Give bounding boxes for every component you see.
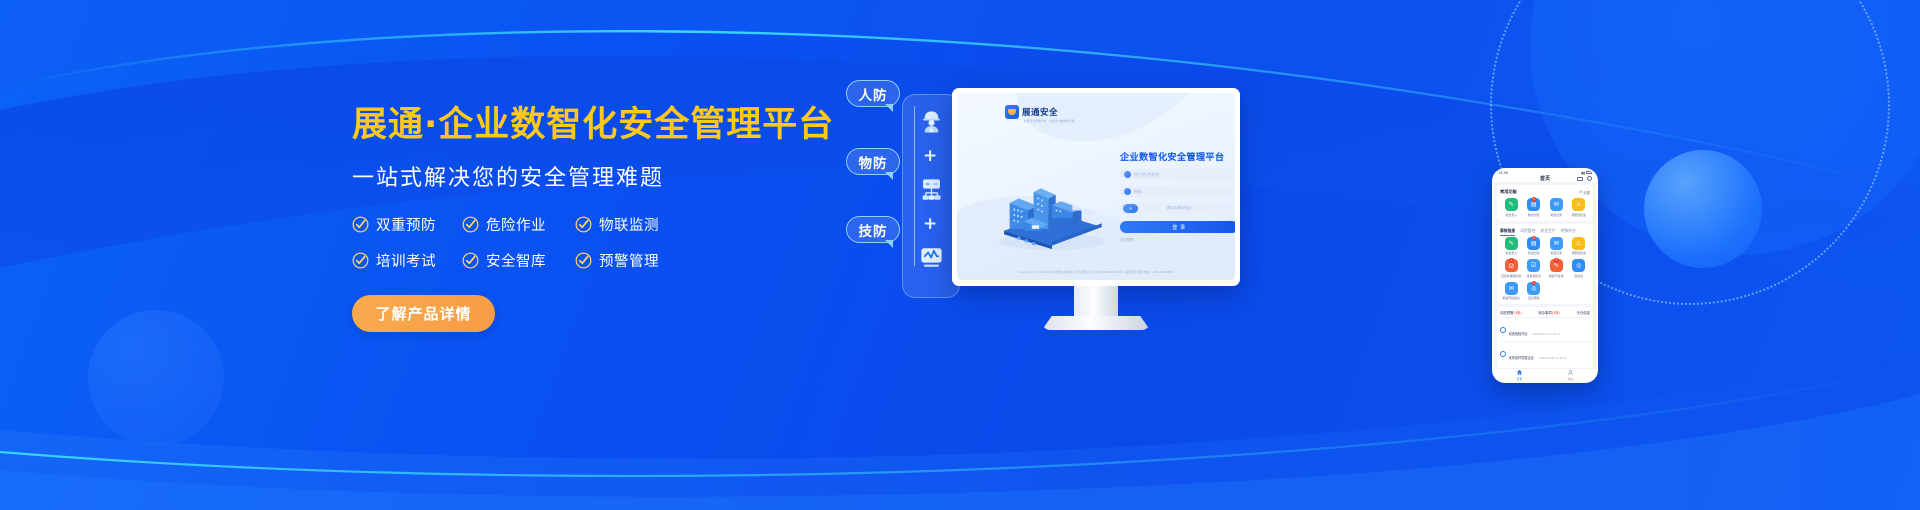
app-tile-label: 检查分配 <box>1528 213 1540 217</box>
badge-count: 4 <box>1532 236 1537 241</box>
check-entry-icon: ✎ <box>1505 198 1518 211</box>
lock-icon <box>1124 188 1131 195</box>
app-tile-label: 应急预案 <box>1528 296 1540 300</box>
chevron-right-icon: › <box>1589 328 1590 332</box>
tab-label: 动态预警 <box>1500 311 1514 315</box>
gear-icon[interactable] <box>1587 176 1592 181</box>
feature-item: 预警管理 <box>575 250 695 271</box>
check-assign-icon: ▤ 4 <box>1527 198 1540 211</box>
home-icon <box>1516 369 1523 376</box>
app-tile[interactable]: ✉ 制证环境信息 <box>1500 282 1523 301</box>
monitor-neck <box>1074 286 1118 316</box>
app-tile-label: 应急补报改隐患 <box>1501 274 1521 278</box>
logo-subtext: 智慧安全管理平台 · 企业安全数智化升级 <box>1024 119 1075 123</box>
decorative-circle-left <box>88 310 224 446</box>
section-header: 常用功能 ⚙ 设置 <box>1500 189 1590 195</box>
monitor-frame: 展通安全 智慧安全管理平台 · 企业安全数智化升级 <box>952 88 1240 286</box>
app-tile-label: 检查录入 <box>1505 251 1517 255</box>
nav-label: 我的 <box>1568 377 1574 381</box>
tab-risk-control[interactable]: 风险管控 <box>1520 228 1535 234</box>
status-time: 13:56 <box>1498 171 1508 175</box>
tab-special-work[interactable]: 特殊作业 <box>1561 228 1576 234</box>
app-tile[interactable]: ✎ 检查录入 <box>1500 237 1523 256</box>
check-record-icon: ✉ <box>1550 198 1563 211</box>
gear-small-icon: ⚙ <box>1579 190 1582 194</box>
feature-item: 安全智库 <box>462 250 575 271</box>
learn-more-button[interactable]: 了解产品详情 <box>352 295 495 332</box>
defence-column: 人防 + 物防 + 技防 <box>890 80 960 306</box>
list-item[interactable]: 未完成环境类企业 2024-05-08 11:40:15 › <box>1500 341 1590 365</box>
pending-hazard-icon: ⚠ <box>1572 198 1585 211</box>
app-tile-label: 检查分配 <box>1528 251 1540 255</box>
feature-item: 双重预防 <box>352 214 462 235</box>
rectify-failed-icon: ✎ 3 <box>1550 259 1563 272</box>
tab-today-info[interactable]: 今日信息 <box>1576 310 1590 315</box>
app-tile[interactable]: ✎ 检查录入 <box>1500 198 1523 217</box>
section-settings-link[interactable]: ⚙ 设置 <box>1579 190 1590 195</box>
city-illustration <box>987 181 1117 251</box>
section-title: 常用功能 <box>1500 189 1517 195</box>
tab-todo[interactable]: 待办事项(3条) <box>1538 310 1560 315</box>
tab-count: (3条) <box>1514 311 1522 315</box>
status-indicators: ▮▮ <box>1581 171 1592 175</box>
list-item[interactable]: 动态危险作业 2024-05-08 11:42:13 › <box>1500 317 1590 341</box>
app-tile[interactable]: ▤ 4 检查分配 <box>1523 237 1546 256</box>
password-field[interactable]: 密码 <box>1120 186 1235 197</box>
check-circle-icon <box>352 252 369 269</box>
defence-plus-1: + <box>923 146 937 166</box>
signal-icon: ▮▮ <box>1581 171 1585 175</box>
list-item-title: 动态危险作业 <box>1509 332 1528 336</box>
defence-plus-2: + <box>923 214 937 234</box>
battery-icon <box>1586 171 1592 174</box>
nav-item-profile[interactable]: 我的 <box>1545 369 1596 381</box>
app-icon-grid: ✎ 检查录入 ▤ 4 检查分配 ✉ 检查记录 ⚠ <box>1500 198 1590 217</box>
app-tile[interactable]: ✉ 检查记录 <box>1545 237 1568 256</box>
env-info-icon: ✉ <box>1505 282 1518 295</box>
list-item-time: 2024-05-08 11:42:13 <box>1533 333 1561 336</box>
page-title: 展通·企业数智化安全管理平台 <box>352 104 872 148</box>
section-common-functions: 常用功能 ⚙ 设置 ✎ 检查录入 ▤ 4 检查分配 <box>1497 185 1593 221</box>
check-circle-icon <box>462 216 479 233</box>
password-placeholder: 密码 <box>1134 189 1142 195</box>
slider-handle-icon[interactable]: » <box>1123 204 1138 213</box>
tab-safe-production[interactable]: 安全生产 <box>1540 228 1555 234</box>
badge-count: 1 <box>1532 281 1537 286</box>
list-item-title: 未完成环境类企业 <box>1509 356 1535 360</box>
defence-label-jifang[interactable]: 技防 <box>846 216 900 243</box>
desktop-monitor-mockup: 展通安全 智慧安全管理平台 · 企业安全数智化升级 <box>952 88 1240 330</box>
hazard-ledger-icon: ◎ <box>1572 259 1585 272</box>
list-item-body: 未完成环境类企业 2024-05-08 11:40:15 <box>1509 344 1587 363</box>
message-icon[interactable] <box>1577 177 1583 181</box>
phone-bottom-nav: 首页 我的 <box>1494 368 1596 381</box>
pending-hazard-icon: ⚠ <box>1572 237 1585 250</box>
app-tile[interactable]: ⚠ 待整改隐患 <box>1568 198 1591 217</box>
check-assign-icon: ▤ 4 <box>1527 237 1540 250</box>
login-form: 企业数智化安全管理平台 用户名/手机号 密码 » 请向右滑动验证 登 录 <box>1120 149 1235 242</box>
app-tile[interactable]: ◎ 1 应急预案 <box>1523 282 1546 301</box>
username-placeholder: 用户名/手机号 <box>1134 172 1159 178</box>
app-tile-label: 待整改隐患 <box>1572 251 1586 255</box>
badge-count: 3 <box>1554 258 1559 263</box>
app-tile[interactable]: ◎ 隐患台 <box>1568 259 1591 278</box>
check-record-icon: ✉ <box>1550 237 1563 250</box>
feature-label: 培训考试 <box>376 250 436 271</box>
tab-label: 待办事项 <box>1538 311 1552 315</box>
status-dot-icon <box>1500 327 1506 333</box>
check-entry-icon: ✎ <box>1505 237 1518 250</box>
phone-header-title: 首页 <box>1540 175 1550 182</box>
app-tile-label: 待复查隐患 <box>1527 274 1541 278</box>
app-tile[interactable]: ⚠ 待整改隐患 <box>1568 237 1591 256</box>
section-tabs: 事故隐患 风险管控 安全生产 特殊作业 <box>1500 228 1590 234</box>
tab-incident-hazards[interactable]: 事故隐患 <box>1500 228 1515 234</box>
logo-text: 展通安全 <box>1022 106 1058 118</box>
list-item-time: 2024-05-08 11:40:15 <box>1539 357 1567 360</box>
feature-label: 安全智库 <box>486 250 546 271</box>
emergency-plan-icon: ◎ 1 <box>1527 282 1540 295</box>
app-tile-label: 检查录入 <box>1505 213 1517 217</box>
badge-count: 2 <box>1509 258 1514 263</box>
chevron-right-icon: › <box>1589 352 1590 356</box>
feature-label: 预警管理 <box>599 250 659 271</box>
app-tile-label: 隐患台 <box>1574 274 1583 278</box>
monitor-base <box>1042 316 1150 330</box>
app-icon-grid: ✎ 检查录入 ▤ 4 检查分配 ✉ 检查记录 ⚠ <box>1500 237 1590 301</box>
page-subtitle: 一站式解决您的安全管理难题 <box>352 160 872 192</box>
recheck-hazard-icon: ☑ <box>1527 259 1540 272</box>
user-icon <box>1567 369 1574 376</box>
app-tile[interactable]: ☑ 待复查隐患 <box>1523 259 1546 278</box>
defence-label-renfang[interactable]: 人防 <box>846 80 900 107</box>
check-circle-icon <box>575 216 592 233</box>
feature-label: 双重预防 <box>376 214 436 235</box>
section-more-label: 设置 <box>1583 190 1590 195</box>
feature-item: 危险作业 <box>462 214 575 235</box>
slider-hint: 请向右滑动验证 <box>1166 206 1191 211</box>
app-tile[interactable]: ⎙ 2 应急补报改隐患 <box>1500 259 1523 278</box>
helmet-worker-icon <box>918 108 945 135</box>
mobile-app-mockup: 13:56 ▮▮ 首页 常用功能 ⚙ 设置 <box>1492 168 1598 383</box>
login-footer: Copyright © 2019-2024 展通信息科技(江苏)有限公司 苏IC… <box>957 270 1235 274</box>
login-submit-button[interactable]: 登 录 <box>1120 221 1235 233</box>
app-tile-label: 整复不合格 <box>1549 274 1563 278</box>
nav-label: 首页 <box>1517 377 1523 381</box>
tab-count: (3条) <box>1552 311 1560 315</box>
badge-count: 4 <box>1532 197 1537 202</box>
user-icon <box>1124 171 1131 178</box>
monitor-wave-icon <box>918 244 945 271</box>
app-tile[interactable]: ▤ 4 检查分配 <box>1523 198 1546 217</box>
app-tile[interactable]: ✉ 检查记录 <box>1545 198 1568 217</box>
defence-label-wufang[interactable]: 物防 <box>846 148 900 175</box>
forgot-password-link[interactable]: 忘记密码 <box>1120 237 1235 242</box>
list-item-body: 动态危险作业 2024-05-08 11:42:13 <box>1509 320 1587 339</box>
app-tile-label: 待整改隐患 <box>1572 213 1586 217</box>
slider-captcha[interactable]: » 请向右滑动验证 <box>1120 203 1235 214</box>
feature-label: 物联监测 <box>599 214 659 235</box>
hero-banner: 展通·企业数智化安全管理平台 一站式解决您的安全管理难题 双重预防 危险作业 物… <box>0 0 1920 510</box>
tab-dynamic-alerts[interactable]: 动态预警(3条) <box>1500 310 1522 315</box>
section-incident-hazards: 事故隐患 风险管控 安全生产 特殊作业 ✎ 检查录入 ▤ 4 检查分配 <box>1497 224 1593 305</box>
emergency-report-icon: ⎙ 2 <box>1505 259 1518 272</box>
check-circle-icon <box>462 252 479 269</box>
status-dot-icon <box>1500 351 1506 357</box>
check-circle-icon <box>352 216 369 233</box>
check-circle-icon <box>575 252 592 269</box>
notification-list: 动态预警(3条) 待办事项(3条) 今日信息 动态危险作业 2024-05-08… <box>1497 307 1593 368</box>
defence-connector <box>914 106 915 266</box>
network-device-icon <box>918 176 945 203</box>
feature-list: 双重预防 危险作业 物联监测 培训考试 <box>352 214 872 271</box>
notification-tabs: 动态预警(3条) 待办事项(3条) 今日信息 <box>1500 310 1590 315</box>
app-tile-label: 检查记录 <box>1550 251 1562 255</box>
hero-copy: 展通·企业数智化安全管理平台 一站式解决您的安全管理难题 双重预防 危险作业 物… <box>352 104 872 332</box>
feature-label: 危险作业 <box>486 214 546 235</box>
login-screen: 展通安全 智慧安全管理平台 · 企业安全数智化升级 <box>957 93 1235 280</box>
username-field[interactable]: 用户名/手机号 <box>1120 169 1235 180</box>
phone-screen: 13:56 ▮▮ 首页 常用功能 ⚙ 设置 <box>1494 170 1596 381</box>
product-logo: 展通安全 智慧安全管理平台 · 企业安全数智化升级 <box>1005 105 1058 119</box>
login-title: 企业数智化安全管理平台 <box>1120 149 1235 163</box>
feature-item: 物联监测 <box>575 214 695 235</box>
logo-mark-icon <box>1005 105 1019 119</box>
nav-item-home[interactable]: 首页 <box>1494 369 1545 381</box>
decorative-sphere <box>1644 150 1762 268</box>
app-tile-label: 检查记录 <box>1550 213 1562 217</box>
app-tile[interactable]: ✎ 3 整复不合格 <box>1545 259 1568 278</box>
app-tile-label: 制证环境信息 <box>1503 296 1520 300</box>
feature-item: 培训考试 <box>352 250 462 271</box>
phone-header: 首页 <box>1494 175 1596 182</box>
